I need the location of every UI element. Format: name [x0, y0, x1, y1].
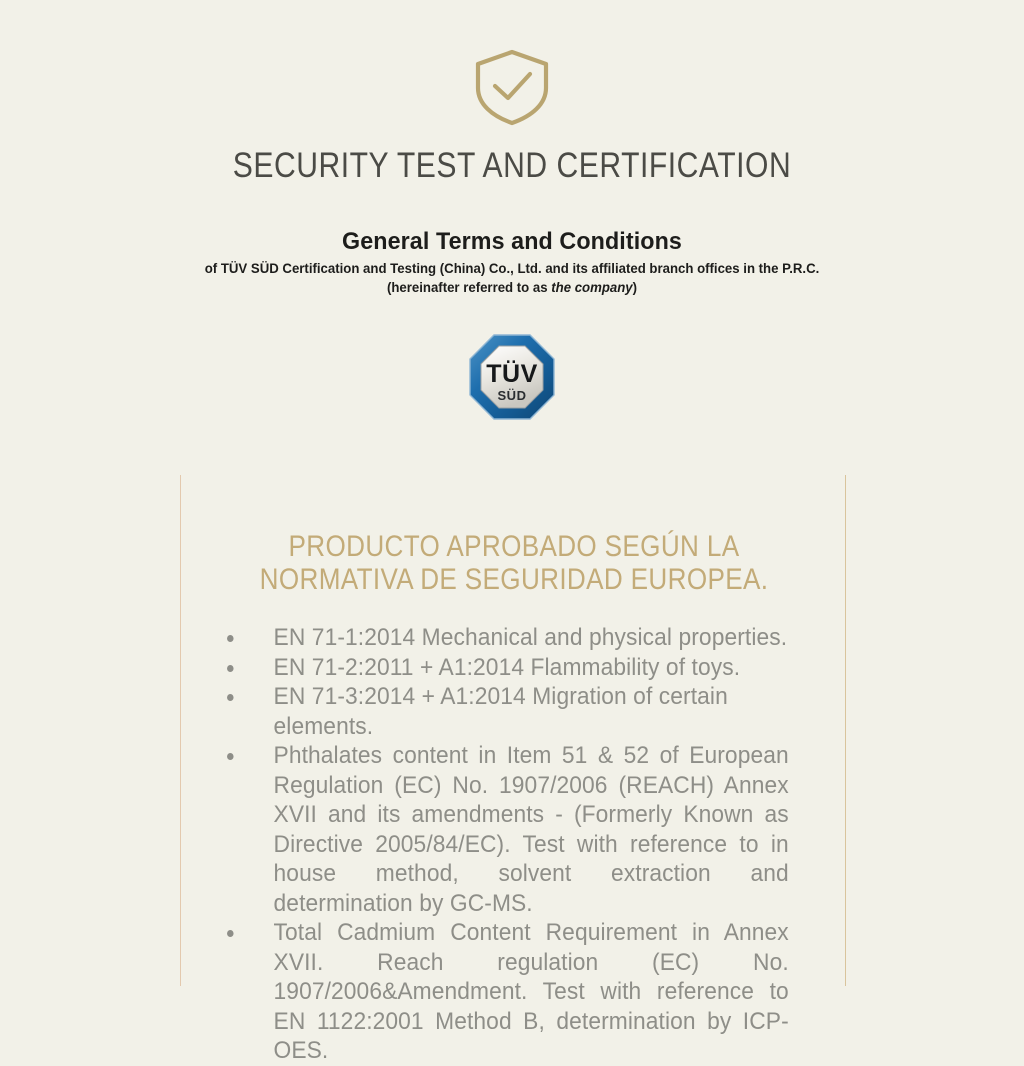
panel-heading: PRODUCTO APROBADO SEGÚN LA NORMATIVA DE … [224, 530, 803, 596]
terms-hereinafter-suffix: ) [633, 280, 637, 296]
list-item: EN 71-1:2014 Mechanical and physical pro… [201, 623, 789, 653]
list-item: Total Cadmium Content Requirement in Ann… [201, 918, 789, 1066]
tuv-sud-logo: TÜV SÜD [467, 332, 557, 422]
standards-list: EN 71-1:2014 Mechanical and physical pro… [201, 623, 833, 1066]
tuv-sud-logo-container: TÜV SÜD [0, 332, 1024, 422]
terms-hereinafter-prefix: (hereinafter referred to as [387, 280, 551, 296]
shield-check-icon [470, 48, 554, 126]
sud-logo-text: SÜD [498, 388, 527, 403]
panel-heading-line2: NORMATIVA DE SEGURIDAD EUROPEA. [260, 563, 769, 596]
panel-heading-line1: PRODUCTO APROBADO SEGÚN LA [289, 530, 740, 563]
page-title: SECURITY TEST AND CERTIFICATION [72, 146, 953, 186]
list-item: EN 71-2:2011 + A1:2014 Flammability of t… [201, 653, 789, 683]
terms-and-conditions-block: General Terms and Conditions of TÜV SÜD … [0, 228, 1024, 298]
certification-page: SECURITY TEST AND CERTIFICATION General … [0, 0, 1024, 1024]
terms-company-italic: the company [551, 280, 632, 296]
terms-entity-line: of TÜV SÜD Certification and Testing (Ch… [36, 260, 988, 279]
shield-icon-container [0, 48, 1024, 126]
terms-hereinafter-line: (hereinafter referred to as the company) [36, 279, 988, 298]
list-item: EN 71-3:2014 + A1:2014 Migration of cert… [201, 682, 789, 741]
list-item: Phthalates content in Item 51 & 52 of Eu… [201, 741, 789, 918]
tuv-logo-text: TÜV [486, 359, 538, 388]
approval-panel: PRODUCTO APROBADO SEGÚN LA NORMATIVA DE … [180, 475, 846, 986]
terms-heading: General Terms and Conditions [15, 228, 1008, 256]
